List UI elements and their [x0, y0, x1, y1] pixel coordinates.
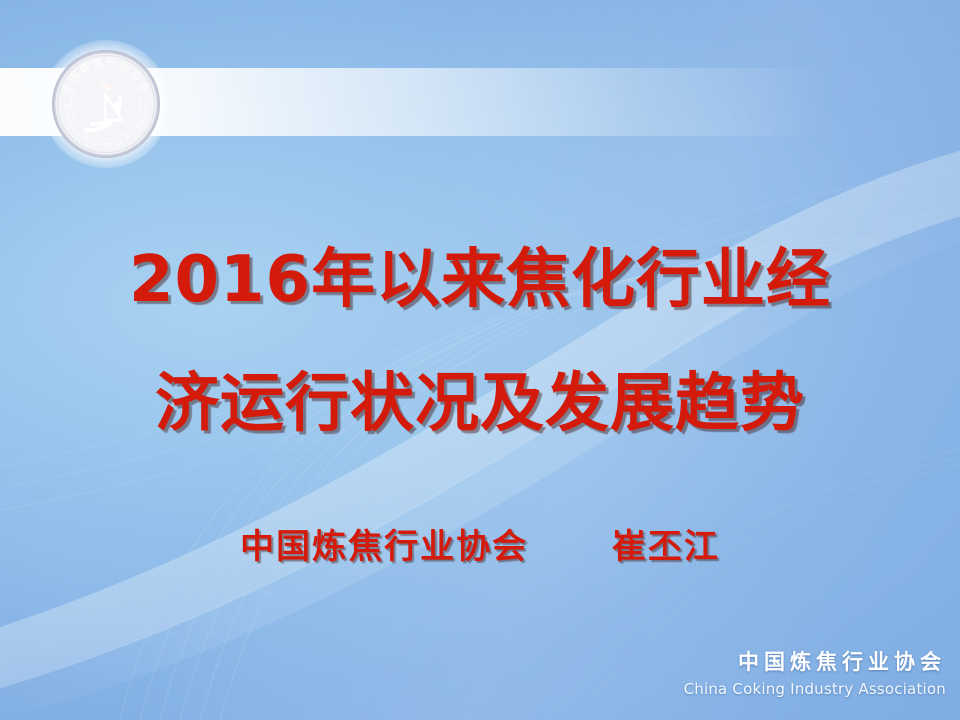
- logo-glow: [42, 40, 170, 168]
- subtitle-presenter: 崔丕江: [612, 527, 720, 567]
- footer-name-en: China Coking Industry Association: [684, 680, 946, 698]
- subtitle-organization: 中国炼焦行业协会: [240, 527, 528, 567]
- title-line-1: 2016年以来焦化行业经: [0, 248, 960, 312]
- association-logo: 中国炼焦行业协会 China Coking Industry Associati…: [50, 48, 162, 160]
- footer-branding: 中国炼焦行业协会 China Coking Industry Associati…: [684, 646, 946, 698]
- slide-title: 2016年以来焦化行业经 济运行状况及发展趋势: [0, 248, 960, 436]
- footer-name-cn: 中国炼焦行业协会: [684, 646, 946, 676]
- title-slide: 中国炼焦行业协会 China Coking Industry Associati…: [0, 0, 960, 720]
- title-line-2: 济运行状况及发展趋势: [0, 372, 960, 436]
- subtitle: 中国炼焦行业协会 崔丕江: [0, 519, 960, 568]
